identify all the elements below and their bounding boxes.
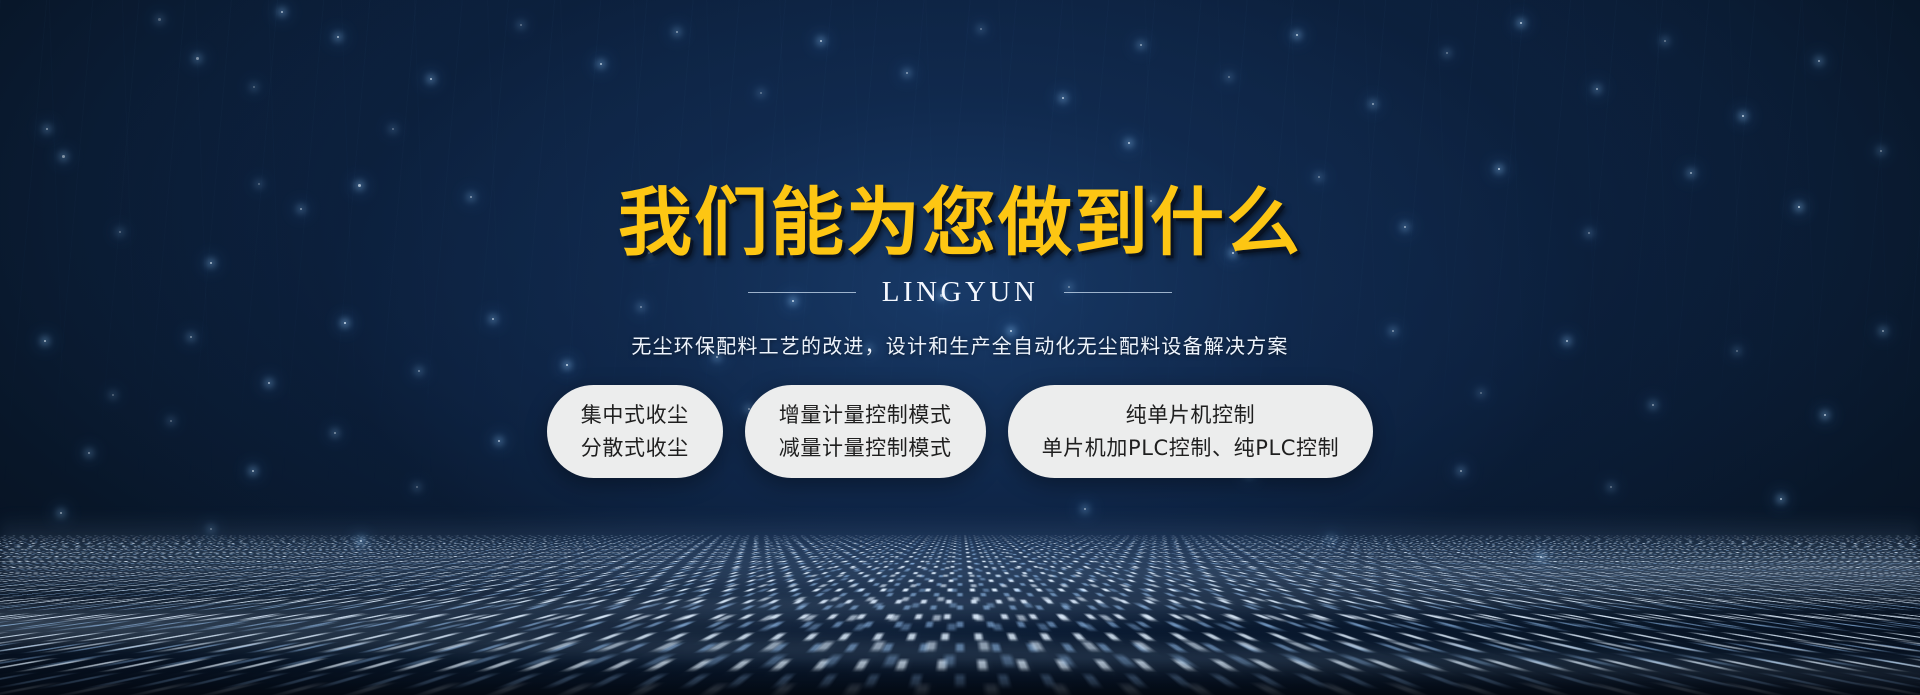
star-particle [1610,486,1612,488]
hero-banner: 我们能为您做到什么 LINGYUN 无尘环保配料工艺的改进，设计和生产全自动化无… [0,0,1920,695]
banner-headline: 我们能为您做到什么 [618,186,1302,260]
divider-line-right [1064,292,1172,293]
feature-card-line: 纯单片机控制 [1126,403,1256,427]
feature-card[interactable]: 集中式收尘分散式收尘 [547,385,723,478]
landscape-bottom-fade [0,659,1920,695]
feature-card-line: 单片机加PLC控制、纯PLC控制 [1042,436,1340,460]
brand-divider-row: LINGYUN [748,276,1173,309]
feature-card-line: 增量计量控制模式 [779,403,952,427]
feature-card[interactable]: 增量计量控制模式减量计量控制模式 [745,385,986,478]
star-particle [416,486,418,488]
feature-card-list: 集中式收尘分散式收尘增量计量控制模式减量计量控制模式纯单片机控制单片机加PLC控… [547,385,1373,478]
brand-name: LINGYUN [882,276,1039,309]
feature-card-line: 分散式收尘 [581,436,689,460]
feature-card-line: 减量计量控制模式 [779,436,952,460]
dot-matrix-wave-landscape [0,495,1920,695]
divider-line-left [748,292,856,293]
banner-subtitle: 无尘环保配料工艺的改进，设计和生产全自动化无尘配料设备解决方案 [631,330,1288,359]
banner-content: 我们能为您做到什么 LINGYUN 无尘环保配料工艺的改进，设计和生产全自动化无… [0,0,1920,478]
feature-card[interactable]: 纯单片机控制单片机加PLC控制、纯PLC控制 [1008,385,1374,478]
feature-card-line: 集中式收尘 [581,403,689,427]
